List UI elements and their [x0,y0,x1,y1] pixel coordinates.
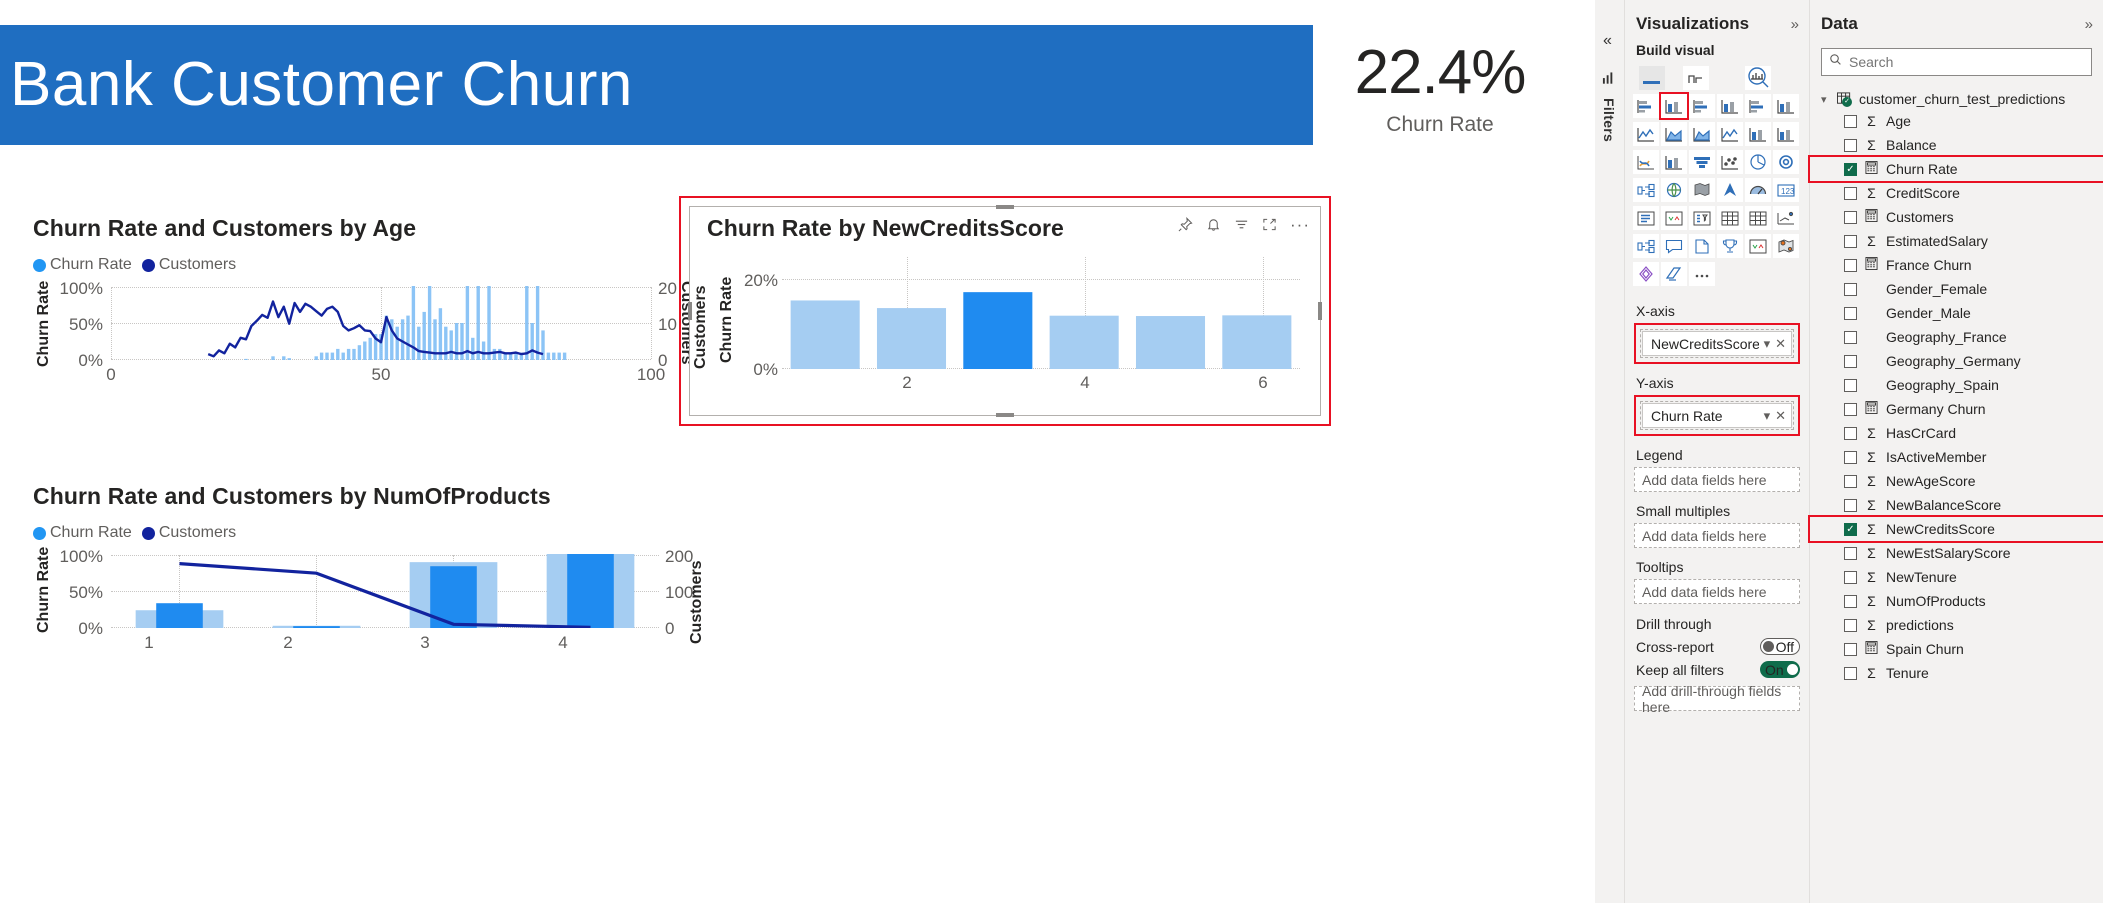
chevron-down-icon[interactable]: ▾ [1764,408,1771,424]
filter-bars-icon[interactable] [1602,72,1617,91]
numofproducts-visual-legend[interactable]: Churn Rate Customers [33,524,693,542]
field-name: NumOfProducts [1886,593,1986,609]
field-name: IsActiveMember [1886,449,1986,465]
churn-rate-kpi-card[interactable]: 22.4% Churn Rate [1320,40,1560,137]
legend-dot-churn-rate [33,259,46,272]
drill-through-label: Drill through [1636,616,1800,632]
data-field-tenure[interactable]: ΣTenure [1810,661,2103,685]
field-checkbox[interactable] [1844,283,1857,296]
cross-report-toggle[interactable]: Off [1760,638,1800,655]
well-label-x-axis: X-axis [1636,303,1800,319]
collapse-pane-icon[interactable]: « [1603,32,1612,50]
well-label-y-axis: Y-axis [1636,375,1800,391]
nop-xtick-4: 4 [543,633,583,653]
field-checkbox[interactable] [1844,355,1857,368]
nop-ytick-100: 100% [55,547,103,567]
nop-y2tick-0: 0 [665,619,674,639]
field-checkbox[interactable] [1844,571,1857,584]
cross-report-row[interactable]: Cross-report Off [1636,638,1800,655]
measure-icon [1864,161,1879,177]
card-icon[interactable]: 123 [1773,178,1799,202]
nop-xtick-1: 1 [129,633,169,653]
field-name: NewAgeScore [1886,473,1976,489]
newcreditsscore-visual-title: Churn Rate by NewCreditsScore [707,215,1064,242]
legend-dot-churn-rate [33,527,46,540]
r-script-icon[interactable] [1773,206,1799,230]
bar-2 [877,308,946,369]
field-checkbox[interactable] [1844,115,1857,128]
data-field-newtenure[interactable]: ΣNewTenure [1810,565,2103,589]
well-label-small-multiples: Small multiples [1636,503,1800,519]
viz-icon-row-partial[interactable] [1625,64,1809,90]
data-field-geography-spain[interactable]: Geography_Spain [1810,373,2103,397]
nop-ytick-0: 0% [55,619,103,639]
ncs-xtick-6: 6 [1243,373,1283,393]
field-name: NewEstSalaryScore [1886,545,2011,561]
stacked-bar-chart-icon[interactable] [1633,94,1659,118]
bar-6 [1222,315,1291,369]
age-ytick-100: 100% [55,279,103,299]
data-field-gender-female[interactable]: Gender_Female [1810,277,2103,301]
bar-3 [963,292,1032,369]
legend-item-customers[interactable]: Customers [142,256,236,274]
chevron-right-icon[interactable]: » [2085,16,2093,33]
stacked-column-chart-icon[interactable] [1661,94,1687,118]
100-stacked-column-chart-icon[interactable] [1773,94,1799,118]
age-ytick-50: 50% [55,315,103,335]
sigma-icon: Σ [1864,593,1879,609]
data-field-isactivemember[interactable]: ΣIsActiveMember [1810,445,2103,469]
resize-handle-top[interactable] [996,205,1014,209]
numofproducts-visual-title: Churn Rate and Customers by NumOfProduct… [33,483,693,510]
filled-map-icon[interactable] [1661,178,1687,202]
drill-through-section[interactable]: Drill through Cross-report Off Keep all … [1625,616,1809,711]
nop-y2tick-200: 200 [665,547,693,567]
field-checkbox[interactable] [1844,211,1857,224]
sigma-icon: Σ [1864,497,1879,513]
age-y2tick-20: 20 [658,279,677,299]
field-checkbox[interactable] [1844,427,1857,440]
well-dropzone-tooltips[interactable]: Add data fields here [1634,579,1800,604]
field-checkbox[interactable] [1844,595,1857,608]
visualization-type-grid[interactable]: 123 [1625,90,1809,292]
keep-all-filters-state: On [1765,662,1784,678]
nop-y2tick-100: 100 [665,583,693,603]
legend-label-customers: Customers [159,524,236,542]
age-visual-legend[interactable]: Churn Rate Customers [33,256,693,274]
line-and-clustered-column-icon[interactable] [1745,122,1771,146]
drill-through-drop-zone[interactable]: Add drill-through fields here [1634,686,1800,711]
report-title-banner[interactable]: Bank Customer Churn [0,25,1313,145]
remove-field-icon[interactable]: ✕ [1775,336,1786,352]
data-pane-title: Data [1821,14,1858,34]
field-name: NewCreditsScore [1886,521,1995,537]
field-name: CreditScore [1886,185,1960,201]
field-checkbox[interactable] [1844,667,1857,680]
field-checkbox[interactable] [1844,331,1857,344]
field-name: Germany Churn [1886,401,1986,417]
field-name: Gender_Male [1886,305,1971,321]
field-checkbox[interactable] [1844,475,1857,488]
legend-label-customers: Customers [159,256,236,274]
visual-header-toolbar[interactable]: ··· [1178,217,1310,232]
sigma-icon: Σ [1864,185,1879,201]
more-options-icon[interactable]: ··· [1290,220,1310,230]
field-checkbox[interactable] [1844,307,1857,320]
visualizations-pane-header: Visualizations » [1625,0,1809,42]
field-name: EstimatedSalary [1886,233,1988,249]
data-field-creditscore[interactable]: ΣCreditScore [1810,181,2103,205]
well-label-legend: Legend [1636,447,1800,463]
pie-chart-icon[interactable] [1717,150,1743,174]
measure-icon [1864,641,1879,657]
legend-item-churn-rate[interactable]: Churn Rate [33,256,132,274]
bar-4 [1050,316,1119,369]
paginated-report-icon[interactable] [1689,234,1715,258]
data-field-customers[interactable]: Customers [1810,205,2103,229]
keep-all-filters-toggle[interactable]: On [1760,661,1800,678]
keep-all-filters-row[interactable]: Keep all filters On [1636,661,1800,678]
data-pane-header: Data » [1810,0,2103,42]
stacked-bar-chart-icon-partial[interactable] [1639,66,1665,90]
age-y2tick-10: 10 [658,315,677,335]
legend-label-churn-rate: Churn Rate [50,524,132,542]
table-node-customer-churn-test-predictions[interactable]: ▾ ✓ customer_churn_test_predictions [1810,89,2103,109]
waterfall-chart-icon[interactable] [1633,150,1659,174]
sigma-icon: Σ [1864,113,1879,129]
data-field-france-churn[interactable]: France Churn [1810,253,2103,277]
legend-dot-customers [142,259,155,272]
multi-row-card-icon[interactable] [1633,206,1659,230]
data-field-gender-male[interactable]: Gender_Male [1810,301,2103,325]
key-influencers-icon[interactable] [1717,234,1743,258]
map-icon[interactable] [1633,178,1659,202]
chevron-right-icon[interactable]: » [1791,16,1799,33]
bar-5 [1136,316,1205,369]
field-name: Age [1886,113,1911,129]
age-visual-title: Churn Rate and Customers by Age [33,215,693,242]
field-checkbox[interactable] [1844,139,1857,152]
well-label-tooltips: Tooltips [1636,559,1800,575]
arcgis-map-icon[interactable] [1773,234,1799,258]
alert-bell-icon[interactable] [1206,217,1221,232]
data-field-age[interactable]: ΣAge [1810,109,2103,133]
data-field-newbalancescore[interactable]: ΣNewBalanceScore [1810,493,2103,517]
visualizations-pane-title: Visualizations [1636,14,1749,34]
field-chip-name: Churn Rate [1651,408,1759,424]
age-chart-plot[interactable]: Churn Rate Customers 100% 50% 0% 20 10 0… [33,275,693,395]
q-and-a-magnifier-icon[interactable] [1745,66,1771,90]
field-checkbox[interactable] [1844,235,1857,248]
ribbon-chart-icon[interactable] [1773,122,1799,146]
data-field-newagescore[interactable]: ΣNewAgeScore [1810,469,2103,493]
power-bi-report-window: Bank Customer Churn 22.4% Churn Rate Chu… [0,0,2103,903]
sigma-icon: Σ [1864,665,1879,681]
field-checkbox[interactable] [1844,643,1857,656]
field-checkbox[interactable] [1844,499,1857,512]
shape-map-icon[interactable] [1717,178,1743,202]
data-field-balance[interactable]: ΣBalance [1810,133,2103,157]
newcreditsscore-visual[interactable]: Churn Rate by NewCreditsScore [689,206,1321,416]
numofproducts-chart-plot[interactable]: Churn Rate Customers 100% 50% 0% 200 100… [33,543,693,663]
age-xtick-50: 50 [361,365,401,385]
toggle-knob [1787,664,1798,675]
q-and-a-icon[interactable] [1661,234,1687,258]
ncs-xtick-2: 2 [887,373,927,393]
donut-chart-icon[interactable] [1745,150,1771,174]
field-name: Spain Churn [1886,641,1964,657]
svg-text:123: 123 [1781,187,1795,196]
clustered-bar-chart-icon-partial[interactable] [1683,66,1709,90]
ncs-y-axis-title: Churn Rate [718,275,736,363]
field-checkbox[interactable] [1844,451,1857,464]
data-field-newcreditsscore[interactable]: ✓ΣNewCreditsScore [1810,517,2103,541]
cross-report-label: Cross-report [1636,639,1714,655]
sigma-icon: Σ [1864,617,1879,633]
clustered-column-chart-icon[interactable] [1717,94,1743,118]
filter-icon[interactable] [1234,217,1249,232]
line-chart-icon[interactable] [1633,122,1659,146]
data-field-germany-churn[interactable]: Germany Churn [1810,397,2103,421]
field-name: Customers [1886,209,1954,225]
sigma-icon: Σ [1864,473,1879,489]
legend-dot-customers [142,527,155,540]
sigma-icon: Σ [1864,425,1879,441]
well-highlight-newcreditsscore: NewCreditsScore▾✕ [1634,323,1800,364]
well-dropzone-small-multiples[interactable]: Add data fields here [1634,523,1800,548]
data-field-predictions[interactable]: Σpredictions [1810,613,2103,637]
ncs-y2-axis-title: Customers [692,269,710,369]
build-visual-label: Build visual [1625,42,1809,64]
field-checkbox[interactable] [1844,619,1857,632]
power-automate-icon[interactable] [1661,262,1687,286]
sigma-icon: Σ [1864,137,1879,153]
100-stacked-bar-chart-icon[interactable] [1745,94,1771,118]
nop-xtick-3: 3 [405,633,445,653]
data-field-hascrcard[interactable]: ΣHasCrCard [1810,421,2103,445]
ncs-xtick-4: 4 [1065,373,1105,393]
field-name: Churn Rate [1886,161,1958,177]
search-icon [1829,53,1842,71]
age-visual[interactable]: Churn Rate and Customers by Age Churn Ra… [33,215,693,395]
field-wells[interactable]: X-axisNewCreditsScore▾✕Y-axisChurn Rate▾… [1625,303,1809,604]
newcreditsscore-chart-plot[interactable]: Customers Churn Rate 20% 0% 2 4 6 [690,247,1322,407]
pin-icon[interactable] [1178,217,1193,232]
report-canvas[interactable]: Bank Customer Churn 22.4% Churn Rate Chu… [0,0,1595,903]
nop-y-axis-title: Churn Rate [35,553,53,633]
field-chip-name: NewCreditsScore [1651,336,1759,352]
field-checkbox[interactable] [1844,379,1857,392]
page-title: Bank Customer Churn [0,54,633,116]
field-name: France Churn [1886,257,1972,273]
measure-icon [1864,257,1879,273]
data-pane[interactable]: Data » ▾ ✓ customer_churn_test_predictio… [1810,0,2103,903]
sigma-icon: Σ [1864,233,1879,249]
decomposition-tree-icon[interactable] [1633,234,1659,258]
well-highlight-churn rate: Churn Rate▾✕ [1634,395,1800,436]
search-input[interactable] [1849,54,2084,70]
data-field-churn-rate[interactable]: ✓Churn Rate [1810,157,2103,181]
field-chip-churn-rate[interactable]: Churn Rate▾✕ [1642,403,1792,428]
area-chart-icon[interactable] [1661,122,1687,146]
sigma-icon: Σ [1864,545,1879,561]
sigma-icon: Σ [1864,449,1879,465]
kpi-label: Churn Rate [1320,113,1560,137]
azure-map-icon[interactable] [1689,178,1715,202]
clustered-bar-chart-icon[interactable] [1689,94,1715,118]
treemap-icon[interactable] [1773,150,1799,174]
field-name: HasCrCard [1886,425,1956,441]
numofproducts-chart-svg [111,554,659,628]
sigma-icon: Σ [1864,521,1879,537]
stacked-area-chart-icon[interactable] [1689,122,1715,146]
data-field-list[interactable]: ΣAgeΣBalance✓Churn RateΣCreditScoreCusto… [1810,109,2103,685]
data-field-spain-churn[interactable]: Spain Churn [1810,637,2103,661]
bar-1 [791,300,860,369]
newcreditsscore-chart-svg[interactable] [782,257,1300,369]
line-and-stacked-column-icon[interactable] [1717,122,1743,146]
resize-handle-bottom[interactable] [996,413,1014,417]
table-icon: ✓ [1837,92,1853,106]
data-field-estimatedsalary[interactable]: ΣEstimatedSalary [1810,229,2103,253]
table-checked-badge: ✓ [1842,97,1852,107]
data-field-numofproducts[interactable]: ΣNumOfProducts [1810,589,2103,613]
scatter-chart-icon[interactable] [1689,150,1715,174]
data-field-geography-france[interactable]: Geography_France [1810,325,2103,349]
ncs-ytick-20: 20% [736,271,778,291]
field-checkbox[interactable]: ✓ [1844,163,1857,176]
power-apps-icon[interactable] [1633,262,1659,286]
field-name: NewTenure [1886,569,1957,585]
cross-report-state: Off [1776,639,1794,655]
filters-pane-collapsed[interactable]: « Filters [1595,0,1625,903]
measure-icon [1864,401,1879,417]
gridline [651,287,652,359]
field-checkbox[interactable] [1844,403,1857,416]
focus-mode-icon[interactable] [1262,217,1277,232]
smart-narrative-icon[interactable] [1745,234,1771,258]
numofproducts-visual[interactable]: Churn Rate and Customers by NumOfProduct… [33,483,693,663]
chevron-down-icon[interactable]: ▾ [1821,93,1831,106]
age-chart-svg [111,286,651,360]
field-checkbox[interactable] [1844,187,1857,200]
field-name: Balance [1886,137,1937,153]
kpi-value: 22.4% [1320,40,1560,105]
age-xtick-100: 100 [631,365,671,385]
matrix-icon[interactable] [1745,206,1771,230]
legend-label-churn-rate: Churn Rate [50,256,132,274]
field-name: NewBalanceScore [1886,497,2001,513]
data-search-box[interactable] [1821,48,2092,76]
legend-item-customers[interactable]: Customers [142,524,236,542]
field-name: Geography_Spain [1886,377,1999,393]
remove-field-icon[interactable]: ✕ [1775,408,1786,424]
sigma-icon: Σ [1864,569,1879,585]
data-field-newestsalaryscore[interactable]: ΣNewEstSalaryScore [1810,541,2103,565]
field-name: Gender_Female [1886,281,1987,297]
table-name: customer_churn_test_predictions [1859,91,2065,107]
funnel-icon[interactable] [1661,150,1687,174]
toggle-knob [1763,641,1774,652]
slicer-icon[interactable] [1689,206,1715,230]
field-checkbox[interactable] [1844,259,1857,272]
nop-ytick-50: 50% [55,583,103,603]
chevron-down-icon[interactable]: ▾ [1764,336,1771,352]
field-name: Geography_Germany [1886,353,2021,369]
filters-pane-label: Filters [1601,98,1617,142]
data-field-geography-germany[interactable]: Geography_Germany [1810,349,2103,373]
field-checkbox[interactable]: ✓ [1844,523,1857,536]
table-icon[interactable] [1717,206,1743,230]
gauge-icon[interactable] [1745,178,1771,202]
age-xtick-0: 0 [91,365,131,385]
measure-icon [1864,209,1879,225]
nop-xtick-2: 2 [268,633,308,653]
age-y-axis-title: Churn Rate [35,287,53,367]
kpi-icon[interactable] [1661,206,1687,230]
ncs-ytick-0: 0% [736,360,778,380]
keep-all-filters-label: Keep all filters [1636,662,1724,678]
well-dropzone-legend[interactable]: Add data fields here [1634,467,1800,492]
field-chip-newcreditsscore[interactable]: NewCreditsScore▾✕ [1642,331,1792,356]
field-name: Tenure [1886,665,1929,681]
visualizations-pane[interactable]: Visualizations » Build visual 123 Stack [1625,0,1810,903]
field-checkbox[interactable] [1844,547,1857,560]
field-name: predictions [1886,617,1954,633]
more-visuals-icon[interactable] [1689,262,1715,286]
field-name: Geography_France [1886,329,2007,345]
legend-item-churn-rate[interactable]: Churn Rate [33,524,132,542]
